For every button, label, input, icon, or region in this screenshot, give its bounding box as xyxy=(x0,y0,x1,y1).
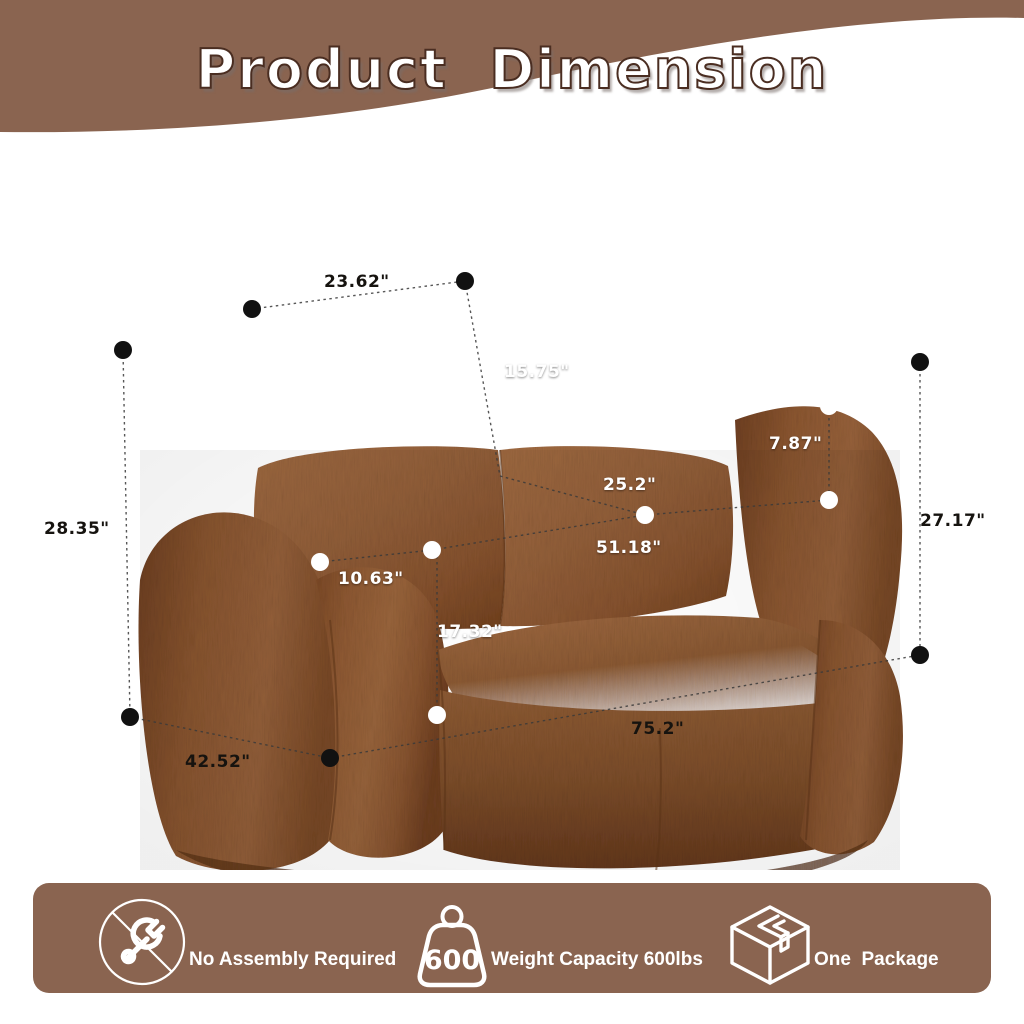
dot-seat-left xyxy=(423,541,441,559)
feature-label-one-package: One Package xyxy=(814,949,939,993)
feature-one-package: One Package xyxy=(726,883,939,993)
feature-label-no-assembly: No Assembly Required xyxy=(189,949,396,993)
dimension-label-overall-width: 75.2" xyxy=(631,719,684,739)
dot-arm-inner xyxy=(311,553,329,571)
page-title: Product Dimension xyxy=(0,38,1024,101)
dimension-label-pillow-width: 23.62" xyxy=(324,272,390,292)
feature-label-weight-capacity: Weight Capacity 600lbs xyxy=(491,949,703,993)
weight-icon-value: 600 xyxy=(424,945,480,976)
dimension-label-overall-height: 28.35" xyxy=(44,519,110,539)
dimension-label-overall-depth: 42.52" xyxy=(185,752,251,772)
box-icon xyxy=(726,901,814,993)
dot-seat-bottom xyxy=(428,706,446,724)
product-stage: 23.62" 15.75" 7.87" 25.2" 51.18" 28.35" … xyxy=(0,150,1024,870)
dot-right-top xyxy=(911,353,929,371)
dimension-label-armrest-width: 10.63" xyxy=(338,569,404,589)
dot-arm-bottom xyxy=(820,491,838,509)
header-banner: Product Dimension xyxy=(0,0,1024,145)
dimension-label-seat-height: 17.32" xyxy=(437,622,503,642)
dot-footprint-front xyxy=(321,749,339,767)
dot-pillow-right xyxy=(456,272,474,290)
dot-arm-top xyxy=(820,397,838,415)
dimension-label-seat-width: 51.18" xyxy=(596,538,662,558)
product-dimension-infographic: Product Dimension xyxy=(0,0,1024,1024)
dot-height-top xyxy=(114,341,132,359)
wrench-no-assembly-icon xyxy=(95,895,189,993)
dimension-label-pillow-height: 15.75" xyxy=(504,362,570,382)
feature-no-assembly: No Assembly Required xyxy=(95,883,396,993)
dot-seat-center xyxy=(636,506,654,524)
dimension-label-armrest-height: 7.87" xyxy=(769,434,822,454)
feature-weight-capacity: 600 Weight Capacity 600lbs xyxy=(413,883,703,993)
dot-pillow-left xyxy=(243,300,261,318)
feature-bar: No Assembly Required 600 Weight Capacity… xyxy=(33,883,991,993)
weight-icon: 600 xyxy=(413,903,491,993)
dimension-label-seat-depth: 25.2" xyxy=(603,475,656,495)
dot-height-bottom xyxy=(121,708,139,726)
dimension-label-overall-height-back: 27.17" xyxy=(920,511,986,531)
dot-right-bottom xyxy=(911,646,929,664)
sofa-illustration-with-dimension-lines xyxy=(0,150,1024,870)
